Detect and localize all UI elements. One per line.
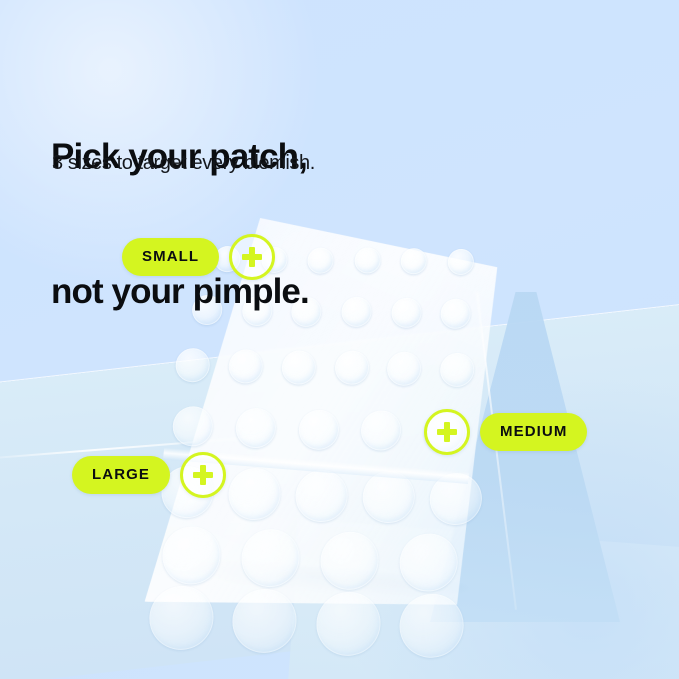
size-badge-medium[interactable]: MEDIUM <box>424 409 587 455</box>
plus-circle-icon[interactable] <box>424 409 470 455</box>
product-hero-image: Pick your patch, not your pimple. 3 size… <box>0 0 679 679</box>
plus-circle-icon[interactable] <box>180 452 226 498</box>
size-badge-large-label: LARGE <box>72 456 170 494</box>
size-badge-small[interactable]: SMALL <box>122 234 275 280</box>
size-badge-large[interactable]: LARGE <box>72 452 226 498</box>
page-title: Pick your patch, not your pimple. <box>51 44 309 404</box>
size-badge-small-label: SMALL <box>122 238 219 276</box>
size-badge-medium-label: MEDIUM <box>480 413 587 451</box>
plus-circle-icon[interactable] <box>229 234 275 280</box>
subtitle: 3 sizes to target every blemish. <box>52 150 315 176</box>
